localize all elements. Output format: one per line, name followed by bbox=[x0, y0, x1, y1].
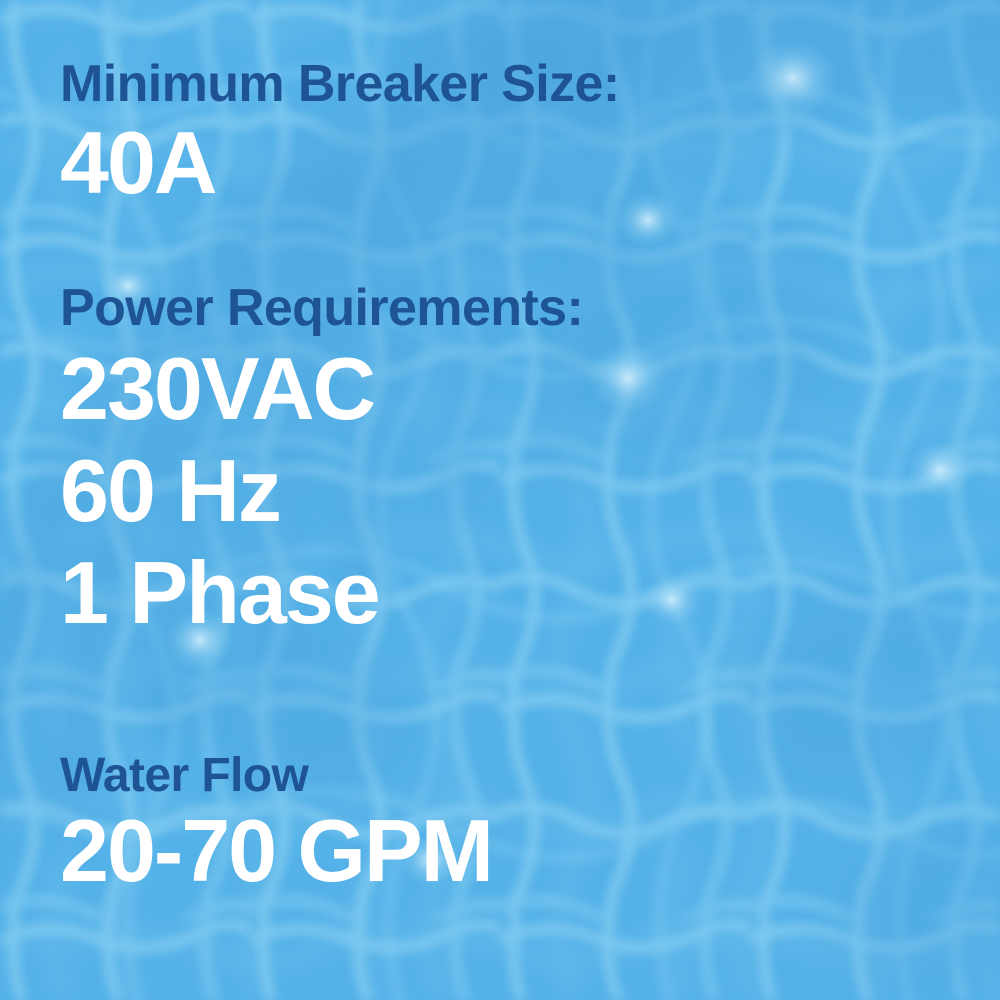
spec-label-power-requirements: Power Requirements: bbox=[60, 282, 583, 334]
spec-value-breaker-amperage: 40A bbox=[60, 118, 620, 208]
spec-label-minimum-breaker-size: Minimum Breaker Size: bbox=[60, 58, 620, 110]
spec-value-flow-rate: 20-70 GPM bbox=[60, 806, 492, 896]
spec-value-frequency: 60 Hz bbox=[60, 446, 583, 536]
spec-value-phase: 1 Phase bbox=[60, 548, 583, 638]
spec-value-voltage: 230VAC bbox=[60, 344, 583, 434]
spec-group-minimum-breaker-size: Minimum Breaker Size: 40A bbox=[60, 58, 620, 208]
spec-group-power-requirements: Power Requirements: 230VAC 60 Hz 1 Phase bbox=[60, 282, 583, 637]
spec-group-water-flow: Water Flow 20-70 GPM bbox=[60, 752, 492, 896]
spec-label-water-flow: Water Flow bbox=[60, 752, 492, 800]
spec-list: Minimum Breaker Size: 40A Power Requirem… bbox=[0, 0, 1000, 1000]
pool-equipment-spec-card: Minimum Breaker Size: 40A Power Requirem… bbox=[0, 0, 1000, 1000]
